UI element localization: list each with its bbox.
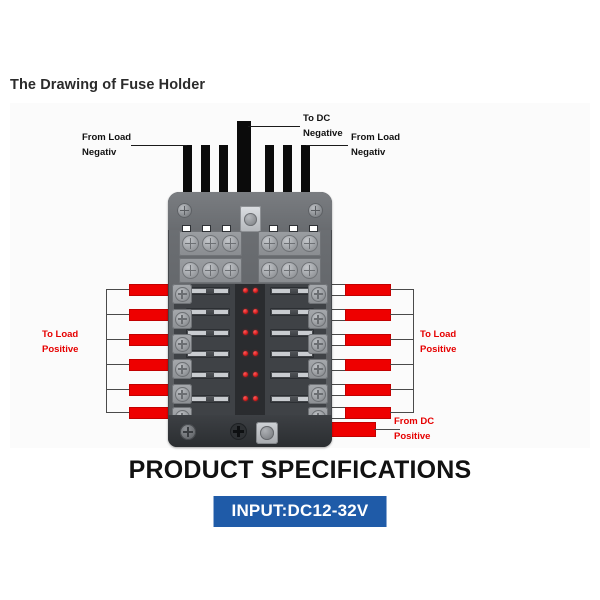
- negative-wire-3: [219, 145, 228, 197]
- led-indicator-strip: [235, 284, 265, 415]
- led-indicator-5b: [253, 372, 258, 377]
- positive-terminal-left-5[interactable]: [172, 384, 192, 404]
- led-indicator-3b: [253, 330, 258, 335]
- right-load-bus-line: [413, 289, 414, 412]
- positive-terminal-right-2[interactable]: [308, 309, 328, 329]
- label-line-2: Positive: [42, 343, 78, 358]
- right-load-wire-1: [345, 284, 391, 296]
- corner-screw-top-right: [308, 203, 323, 218]
- right-branch-5: [390, 389, 414, 390]
- fuse-slot-left-1[interactable]: [186, 287, 230, 295]
- negative-wire-main: [237, 121, 251, 197]
- led-indicator-4a: [243, 351, 248, 356]
- right-load-wire-4: [345, 359, 391, 371]
- fuse-holder-drawing-page: The Drawing of Fuse Holder From Load Neg…: [0, 0, 600, 600]
- bus-screw-4: [261, 235, 278, 252]
- screw-icon: [311, 362, 326, 377]
- page-title: The Drawing of Fuse Holder: [10, 77, 205, 93]
- leader-to-dc-negative: [248, 126, 300, 127]
- left-branch-3: [106, 339, 130, 340]
- bus-screw-10: [261, 262, 278, 279]
- positive-terminal-left-2[interactable]: [172, 309, 192, 329]
- screw-icon: [175, 312, 190, 327]
- led-indicator-1b: [253, 288, 258, 293]
- positive-terminal-right-5[interactable]: [308, 384, 328, 404]
- label-line-1: To Load: [42, 328, 78, 343]
- right-load-wire-6: [345, 407, 391, 419]
- label-line-2: Negativ: [351, 146, 400, 161]
- screw-icon: [175, 287, 190, 302]
- label-line-2: Positive: [420, 343, 456, 358]
- negative-wire-4: [265, 145, 274, 197]
- leader-from-load-negative-right: [306, 145, 348, 146]
- right-branch-6: [390, 412, 414, 413]
- left-branch-5: [106, 389, 130, 390]
- label-line-2: Negativ: [82, 146, 131, 161]
- wire-clip-5: [289, 225, 298, 232]
- right-load-wire-5: [345, 384, 391, 396]
- right-branch-2: [390, 314, 414, 315]
- led-indicator-2b: [253, 309, 258, 314]
- post-screw-icon: [260, 426, 274, 440]
- center-post-screw-icon: [244, 213, 257, 226]
- bus-screw-6: [301, 235, 318, 252]
- led-indicator-5a: [243, 372, 248, 377]
- wire-clip-4: [269, 225, 278, 232]
- right-load-wire-2: [345, 309, 391, 321]
- fuse-slot-left-2[interactable]: [186, 308, 230, 316]
- left-branch-6: [106, 412, 130, 413]
- bus-screw-7: [182, 262, 199, 279]
- screw-icon: [175, 387, 190, 402]
- left-branch-4: [106, 364, 130, 365]
- led-indicator-4b: [253, 351, 258, 356]
- bus-screw-8: [202, 262, 219, 279]
- screw-icon: [311, 387, 326, 402]
- positive-terminal-left-3[interactable]: [172, 334, 192, 354]
- mounting-screw-bottom-left: [180, 424, 196, 440]
- led-indicator-6a: [243, 396, 248, 401]
- negative-wire-1: [183, 145, 192, 197]
- left-load-bus-line: [106, 289, 107, 412]
- label-to-load-positive-right: To Load Positive: [420, 328, 456, 357]
- label-line-1: From Load: [351, 131, 400, 146]
- right-load-wire-3: [345, 334, 391, 346]
- right-branch-3: [390, 339, 414, 340]
- fuse-slot-left-5[interactable]: [186, 371, 230, 379]
- positive-terminal-right-4[interactable]: [308, 359, 328, 379]
- wire-clip-6: [309, 225, 318, 232]
- label-line-2: Negative: [303, 127, 343, 142]
- negative-wire-2: [201, 145, 210, 197]
- wire-clip-3: [222, 225, 231, 232]
- negative-wire-5: [283, 145, 292, 197]
- mounting-hole-bottom-center: [230, 423, 247, 440]
- bus-screw-1: [182, 235, 199, 252]
- fuse-slot-left-3[interactable]: [186, 329, 230, 337]
- corner-screw-top-left: [177, 203, 192, 218]
- screw-icon: [311, 287, 326, 302]
- bus-screw-11: [281, 262, 298, 279]
- label-line-1: To DC: [303, 112, 343, 127]
- negative-wire-6: [301, 145, 310, 197]
- fuse-holder-body: [168, 192, 332, 447]
- led-indicator-3a: [243, 330, 248, 335]
- right-branch-4: [390, 364, 414, 365]
- leader-from-load-negative-left: [131, 145, 187, 146]
- wire-clip-2: [202, 225, 211, 232]
- wire-clip-1: [182, 225, 191, 232]
- dc-positive-input-post: [256, 422, 278, 444]
- diagram-panel: From Load Negativ To DC Negative From Lo…: [10, 103, 590, 448]
- screw-icon: [311, 337, 326, 352]
- bus-screw-5: [281, 235, 298, 252]
- bus-screw-9: [222, 262, 239, 279]
- label-line-1: From DC: [394, 415, 434, 430]
- left-branch-2: [106, 314, 130, 315]
- bus-screw-12: [301, 262, 318, 279]
- led-indicator-6b: [253, 396, 258, 401]
- bus-screw-2: [202, 235, 219, 252]
- positive-terminal-right-1[interactable]: [308, 284, 328, 304]
- left-branch-1: [106, 289, 130, 290]
- label-from-dc-positive: From DC Positive: [394, 415, 434, 444]
- screw-icon: [175, 362, 190, 377]
- label-to-load-positive-left: To Load Positive: [42, 328, 78, 357]
- fuse-slot-area: [174, 284, 326, 415]
- label-line-2: Positive: [394, 430, 434, 445]
- positive-terminal-left-1[interactable]: [172, 284, 192, 304]
- center-post-top: [240, 206, 261, 232]
- positive-terminal-left-4[interactable]: [172, 359, 192, 379]
- screw-icon: [311, 312, 326, 327]
- label-to-dc-negative: To DC Negative: [303, 112, 343, 141]
- bus-screw-3: [222, 235, 239, 252]
- label-line-1: To Load: [420, 328, 456, 343]
- right-branch-1: [390, 289, 414, 290]
- product-specifications-title: PRODUCT SPECIFICATIONS: [0, 456, 600, 485]
- label-line-1: From Load: [82, 131, 131, 146]
- led-indicator-1a: [243, 288, 248, 293]
- input-voltage-badge: INPUT:DC12-32V: [214, 496, 387, 527]
- label-from-load-negative-left: From Load Negativ: [82, 131, 131, 160]
- label-from-load-negative-right: From Load Negativ: [351, 131, 400, 160]
- positive-terminal-right-3[interactable]: [308, 334, 328, 354]
- led-indicator-2a: [243, 309, 248, 314]
- fuse-slot-left-4[interactable]: [186, 350, 230, 358]
- screw-icon: [175, 337, 190, 352]
- fuse-slot-left-6[interactable]: [186, 395, 230, 403]
